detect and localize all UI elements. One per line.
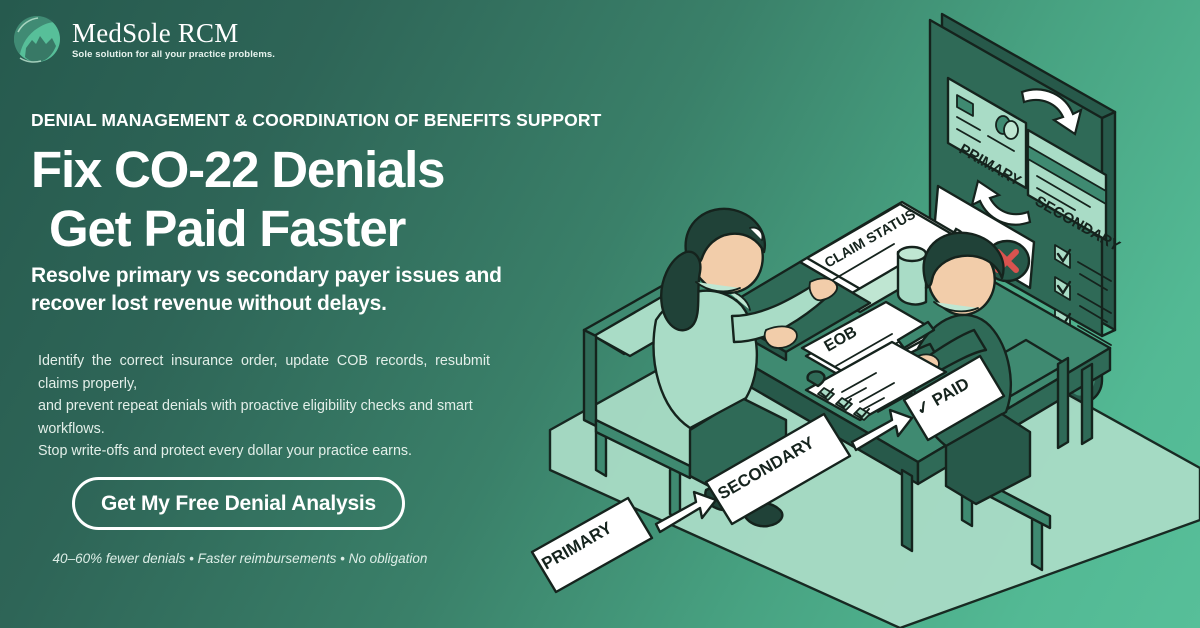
get-free-denial-analysis-button[interactable]: Get My Free Denial Analysis [72, 477, 405, 530]
woman-ponytail [661, 252, 700, 331]
body-paragraph-1: Identify the correct insurance order, up… [38, 350, 490, 395]
copy-column: MedSole RCM Sole solution for all your p… [0, 0, 620, 628]
footnote-text: 40–60% fewer denials • Faster reimbursem… [40, 549, 440, 569]
subheadline-line-2: recover lost revenue without delays. [31, 290, 551, 318]
subheadline: Resolve primary vs secondary payer issue… [31, 262, 551, 318]
cta-label: Get My Free Denial Analysis [101, 492, 376, 516]
subheadline-line-1: Resolve primary vs secondary payer issue… [31, 262, 551, 290]
eyebrow-text: DENIAL MANAGEMENT & COORDINATION OF BENE… [31, 110, 601, 131]
brand-name: MedSole RCM [72, 20, 275, 47]
body-paragraph-2: and prevent repeat denials with proactiv… [38, 395, 490, 440]
headline-line-1: Fix CO-22 Denials [31, 144, 591, 195]
body-paragraph-3: Stop write-offs and protect every dollar… [38, 440, 490, 463]
headline-line-2: Get Paid Faster [31, 203, 591, 254]
page-title: Fix CO-22 Denials Get Paid Faster [31, 144, 591, 254]
brand-logo[interactable]: MedSole RCM Sole solution for all your p… [12, 14, 275, 64]
body-copy: Identify the correct insurance order, up… [38, 350, 490, 463]
globe-icon [12, 14, 62, 64]
brand-tagline: Sole solution for all your practice prob… [72, 50, 275, 60]
promo-banner: .ln{fill:none;stroke:#15231d;stroke-widt… [0, 0, 1200, 628]
